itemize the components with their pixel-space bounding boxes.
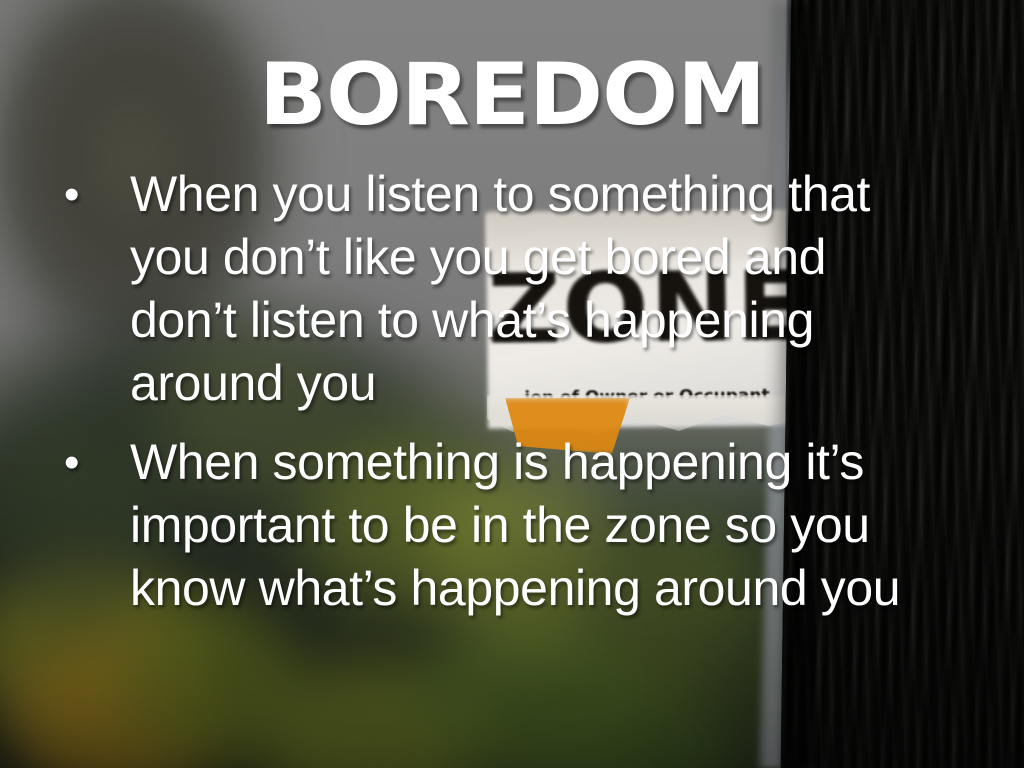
bullet-marker-icon: • xyxy=(56,431,130,494)
presentation-slide: ZONE ion of Owner or Occupant BOREDOM • … xyxy=(0,0,1024,768)
bullet-item: • When something is happening it’s impor… xyxy=(56,431,956,620)
bullet-text: When something is happening it’s importa… xyxy=(130,431,920,620)
bullet-text: When you listen to something that you do… xyxy=(130,163,920,415)
bullet-list: • When you listen to something that you … xyxy=(56,163,956,636)
slide-content: BOREDOM • When you listen to something t… xyxy=(0,0,1024,768)
bullet-marker-icon: • xyxy=(56,163,130,226)
slide-title: BOREDOM xyxy=(0,52,1024,138)
bullet-item: • When you listen to something that you … xyxy=(56,163,956,415)
